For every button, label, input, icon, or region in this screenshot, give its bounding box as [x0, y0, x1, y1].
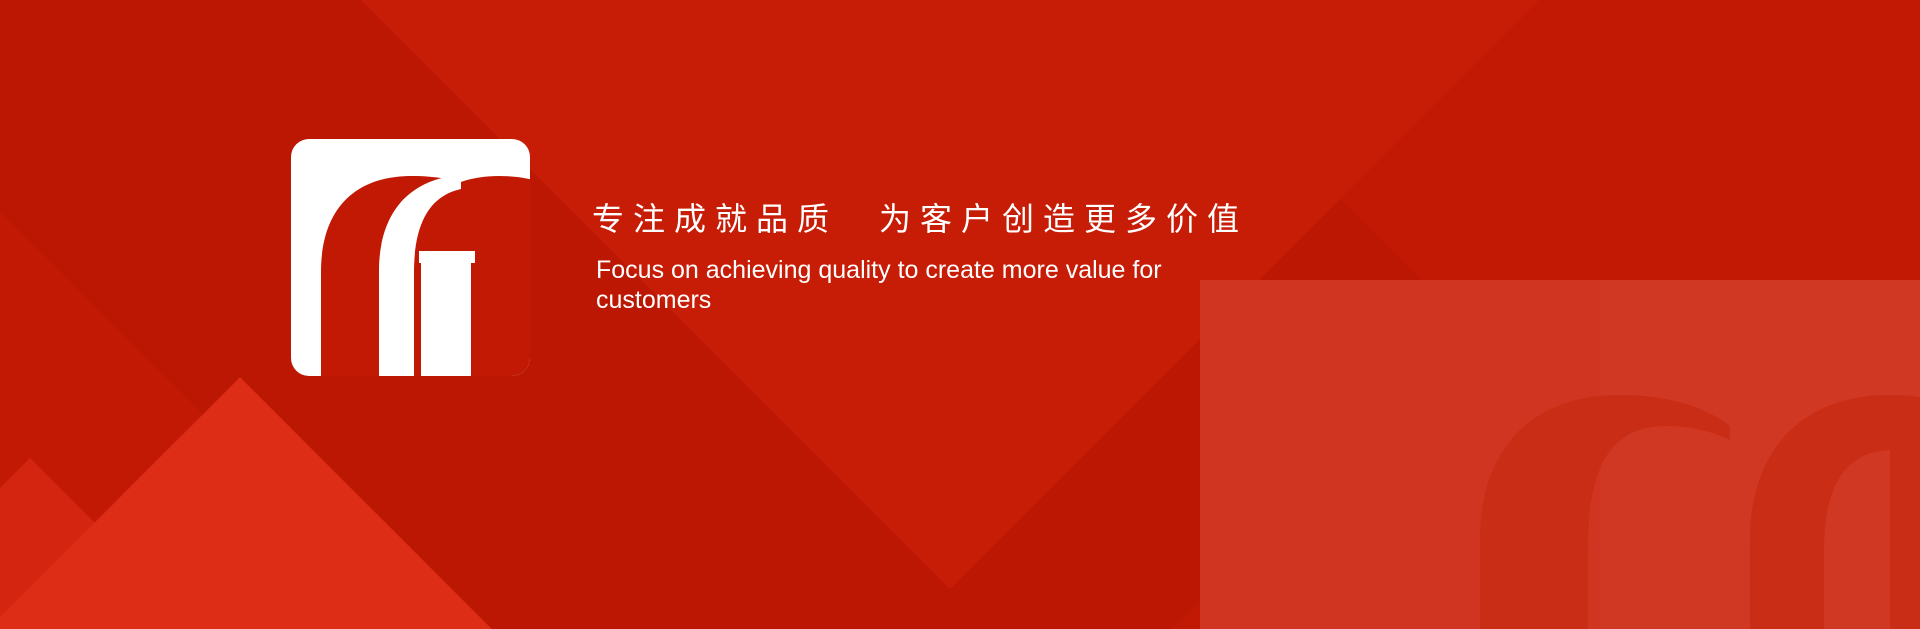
company-monogram-watermark-icon: [1420, 300, 1920, 629]
hero-banner: 专注成就品质 为客户创造更多价值 Focus on achieving qual…: [0, 0, 1920, 629]
company-logo-icon: [291, 139, 530, 376]
banner-subheadline-english: Focus on achieving quality to create mor…: [596, 255, 1226, 315]
banner-text-block: 专注成就品质 为客户创造更多价值 Focus on achieving qual…: [592, 196, 1452, 315]
banner-headline-chinese: 专注成就品质 为客户创造更多价值: [592, 196, 1452, 242]
